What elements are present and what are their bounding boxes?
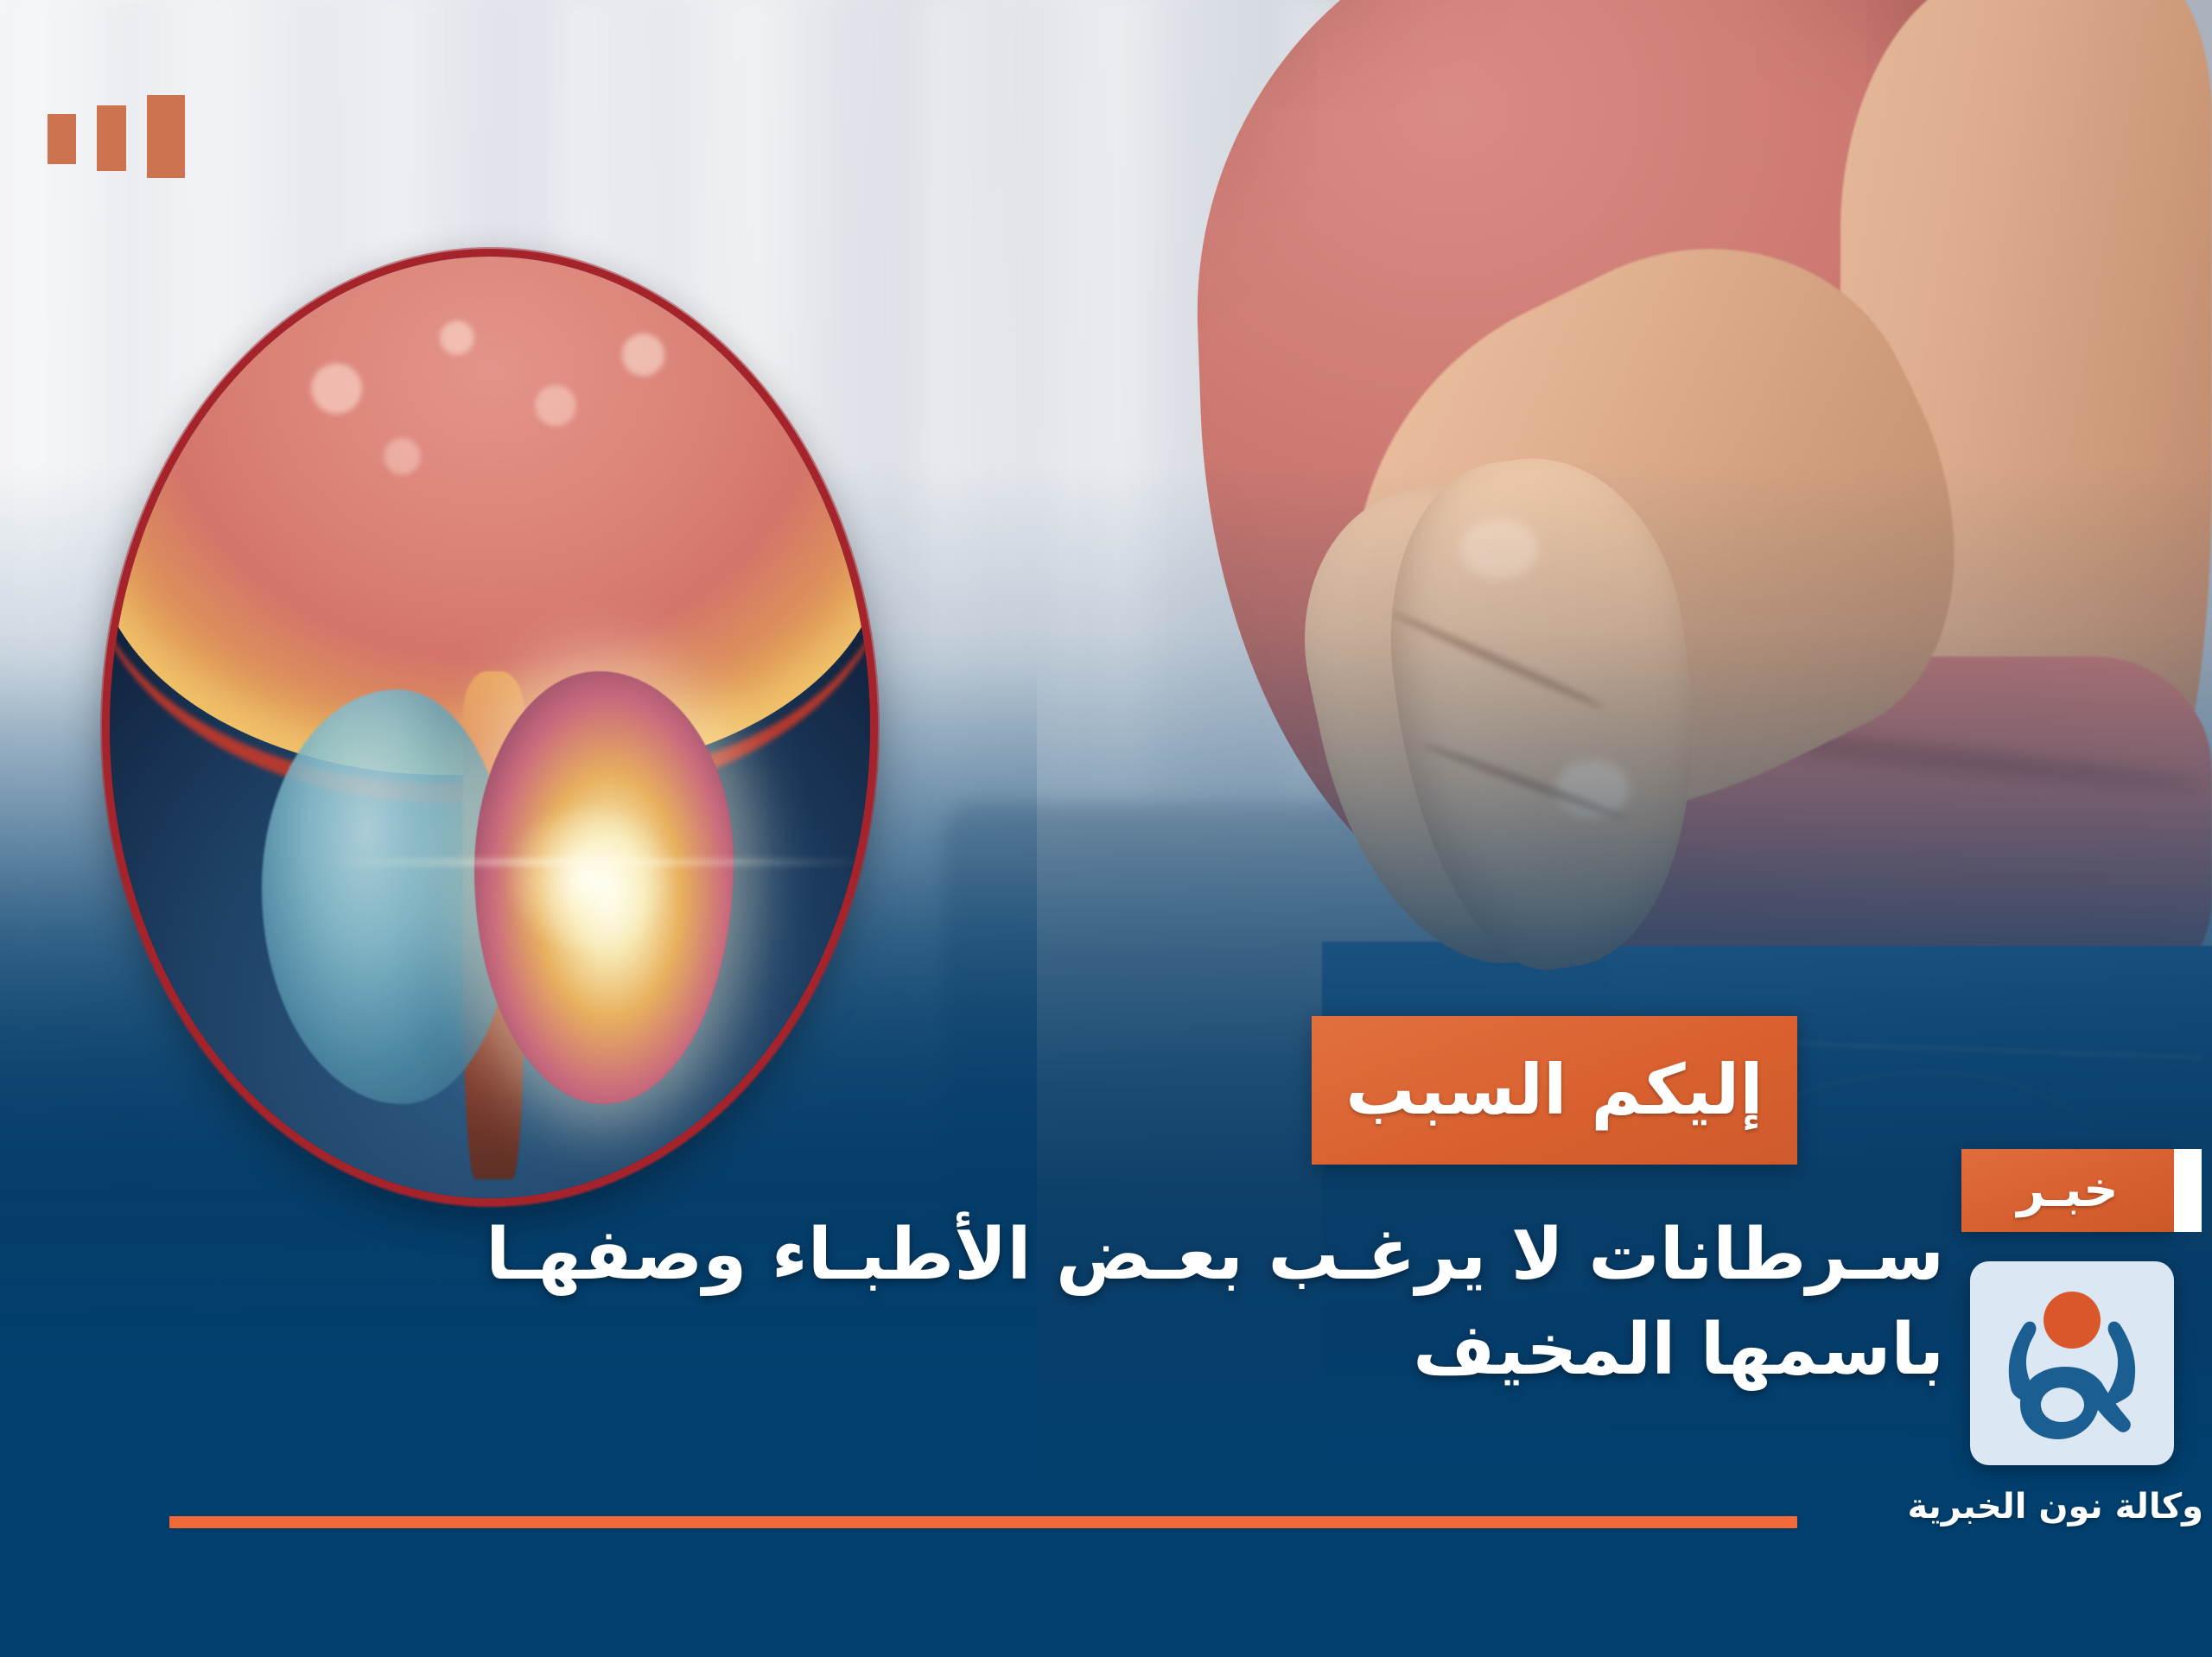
headline-line-2: باسمها المخيف xyxy=(268,1303,1944,1398)
noon-agency-logo-svg xyxy=(1970,1261,2174,1465)
prostate-anatomy-illustration xyxy=(102,249,878,1206)
brand-block: خبـر وكالة نون الخبرية xyxy=(1897,1149,2174,1526)
bar-3 xyxy=(48,114,76,164)
noon-agency-logo xyxy=(1970,1261,2174,1465)
kicker-badge: إليكم السبب xyxy=(1312,1016,1797,1165)
logo-head-dot-icon xyxy=(2044,1292,2101,1349)
brand-name: وكالة نون الخبرية xyxy=(1944,1488,2203,1526)
news-card: إليكم السبب سـرطانات لا يرغـب بعـض الأطب… xyxy=(0,0,2212,1657)
orange-divider xyxy=(169,1516,1797,1528)
tumor-lens-flare xyxy=(322,860,870,865)
tumor-glow xyxy=(505,803,673,953)
news-badge-label: خبـر xyxy=(2017,1166,2118,1215)
logo-right-arm xyxy=(2107,1322,2135,1405)
three-bars-icon xyxy=(48,95,185,178)
news-badge: خبـر xyxy=(1961,1149,2174,1232)
headline-line-1: سـرطانات لا يرغـب بعـض الأطبـاء وصفهـا xyxy=(268,1208,1944,1303)
bar-1 xyxy=(147,95,185,178)
headline: سـرطانات لا يرغـب بعـض الأطبـاء وصفهـا ب… xyxy=(268,1208,1944,1398)
bar-2 xyxy=(97,105,126,171)
kicker-label: إليكم السبب xyxy=(1345,1056,1763,1125)
logo-noon-letter xyxy=(2020,1367,2131,1439)
